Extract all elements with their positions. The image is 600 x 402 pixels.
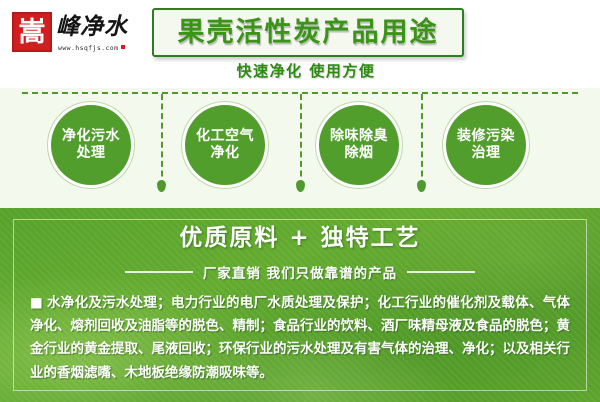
feature-label-2: 化工空气净化 [196,128,254,163]
brand-url-text: www.hsqfjs.com [58,44,118,52]
brand-url: www.hsqfjs.com [58,45,125,52]
feature-circle-2[interactable]: 化工空气净化 [182,102,268,188]
droplet-icon-1 [157,180,166,192]
panel-subheading-row: 厂家直销 我们只做靠谱的产品 [0,262,600,282]
page-title: 果壳活性炭产品用途 [178,19,439,46]
dashed-divider-3 [421,94,423,186]
seal-character: 嵩 [19,19,46,46]
brand-name: 峰净水 [56,16,128,39]
panel-heading: 优质原料 + 独特工艺 [0,218,600,252]
panel-body: ■水净化及污水处理；电力行业的电厂水质处理及保护；化工行业的催化剂及载体、气体净… [30,292,570,385]
bullet-icon: ■ [30,292,43,315]
feature-label-3: 除味除臭除烟 [330,128,388,163]
seal-icon: 嵩 [12,12,52,52]
feature-band: 净化污水处理 化工空气净化 除味除臭除烟 装修污染治理 [0,88,600,208]
feature-circle-4[interactable]: 装修污染治理 [443,102,529,188]
dashed-divider-2 [300,94,302,186]
detail-panel: 优质原料 + 独特工艺 厂家直销 我们只做靠谱的产品 ■水净化及污水处理；电力行… [0,208,600,402]
dashed-divider-1 [161,94,163,186]
title-box: 果壳活性炭产品用途 [152,8,464,57]
droplet-icon-2 [296,180,305,192]
feature-label-1: 净化污水处理 [62,128,120,163]
rule-left [125,271,193,273]
feature-circle-1[interactable]: 净化污水处理 [48,102,134,188]
header: 嵩 峰净水 www.hsqfjs.com 果壳活性炭产品用途 快速净化 使用方便 [0,0,600,88]
rule-right [407,271,475,273]
page-subtitle: 快速净化 使用方便 [152,60,460,81]
panel-subheading: 厂家直销 我们只做靠谱的产品 [203,262,397,282]
feature-label-4: 装修污染治理 [457,128,515,163]
panel-body-text: 水净化及污水处理；电力行业的电厂水质处理及保护；化工行业的催化剂及载体、气体净化… [30,295,570,381]
url-accent-square [121,45,125,49]
promo-banner: 嵩 峰净水 www.hsqfjs.com 果壳活性炭产品用途 快速净化 使用方便… [0,0,600,402]
company-logo: 嵩 峰净水 www.hsqfjs.com [12,12,132,56]
droplet-icon-3 [417,180,426,192]
feature-circle-3[interactable]: 除味除臭除烟 [316,102,402,188]
